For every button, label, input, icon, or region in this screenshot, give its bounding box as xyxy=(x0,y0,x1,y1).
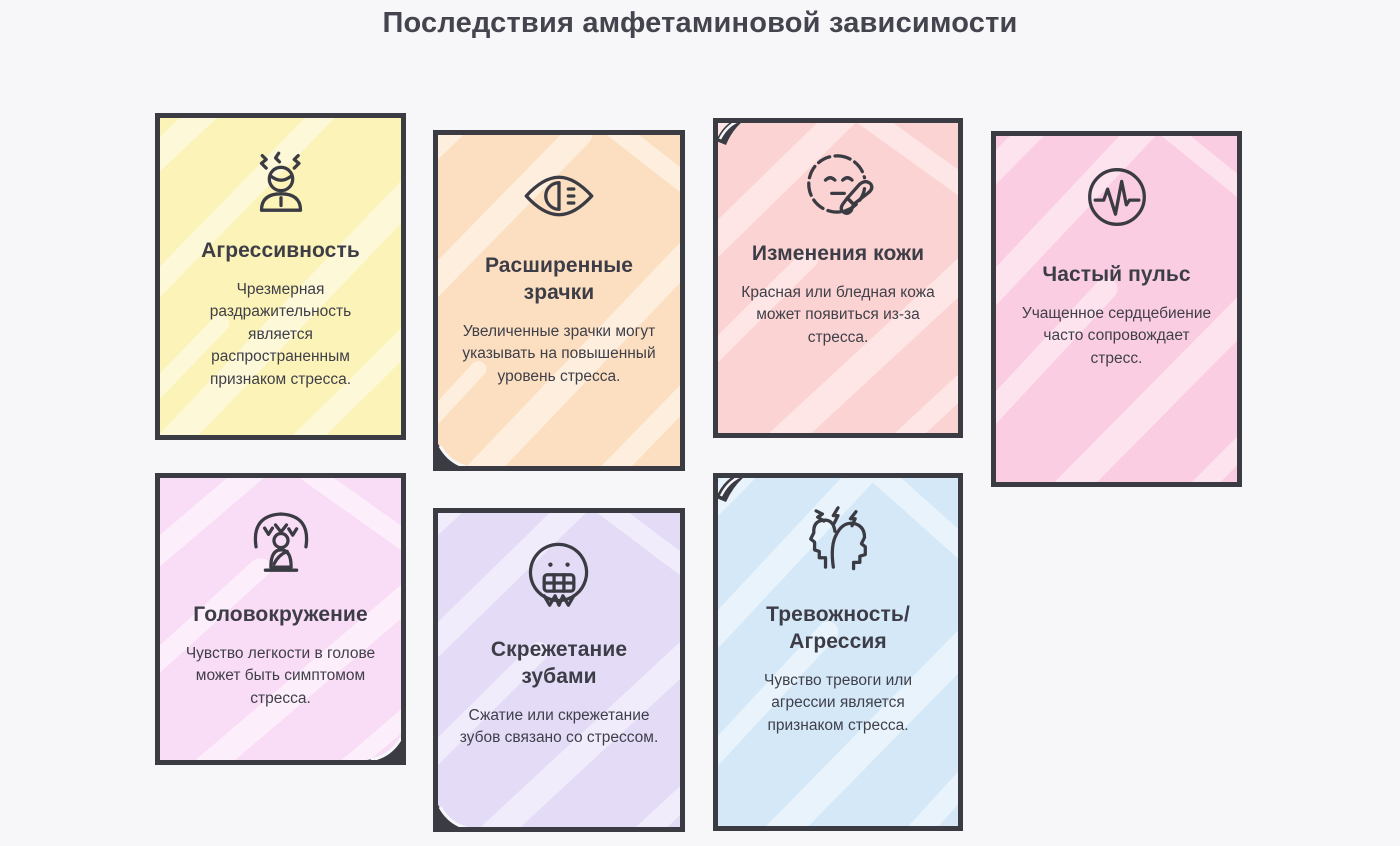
card-description: Увеличенные зрачки могут указывать на по… xyxy=(458,321,660,388)
card-title: Частый пульс xyxy=(1042,262,1190,289)
card-title: Агрессивность xyxy=(201,238,360,265)
card-title: Расширенные зрачки xyxy=(458,253,660,307)
card-anxiety-aggression[interactable]: Тревожность/ Агрессия Чувство тревоги ил… xyxy=(713,473,963,831)
dilated-eye-icon xyxy=(520,157,598,235)
card-title: Тревожность/ Агрессия xyxy=(738,602,938,656)
card-description: Чувство тревоги или агрессии является пр… xyxy=(738,670,938,737)
grinding-teeth-face-icon xyxy=(520,535,598,613)
card-rapid-pulse[interactable]: Частый пульс Учащенное сердцебиение част… xyxy=(991,131,1242,487)
card-description: Чрезмерная раздражительность является ра… xyxy=(180,279,381,391)
card-dizziness[interactable]: Головокружение Чувство легкости в голове… xyxy=(155,473,406,765)
pulse-circle-icon xyxy=(1078,158,1156,236)
card-description: Красная или бледная кожа может появиться… xyxy=(738,282,938,349)
angry-person-icon xyxy=(242,140,320,218)
card-title: Скрежетание зубами xyxy=(458,637,660,691)
card-dilated-pupils[interactable]: Расширенные зрачки Увеличенные зрачки мо… xyxy=(433,130,685,471)
card-title: Головокружение xyxy=(193,602,367,629)
card-teeth-grinding[interactable]: Скрежетание зубами Сжатие или скрежетани… xyxy=(433,508,685,832)
two-heads-lightning-icon xyxy=(799,500,877,578)
card-aggression[interactable]: Агрессивность Чрезмерная раздражительнос… xyxy=(155,113,406,440)
cards-grid: Агрессивность Чрезмерная раздражительнос… xyxy=(0,0,1400,846)
card-description: Учащенное сердцебиение часто сопровождае… xyxy=(1016,303,1217,370)
card-skin-changes[interactable]: Изменения кожи Красная или бледная кожа … xyxy=(713,118,963,438)
card-title: Изменения кожи xyxy=(752,241,924,268)
card-description: Чувство легкости в голове может быть сим… xyxy=(180,643,381,710)
face-with-brush-icon xyxy=(799,145,877,223)
dizzy-person-icon xyxy=(242,500,320,578)
card-description: Сжатие или скрежетание зубов связано со … xyxy=(458,705,660,750)
